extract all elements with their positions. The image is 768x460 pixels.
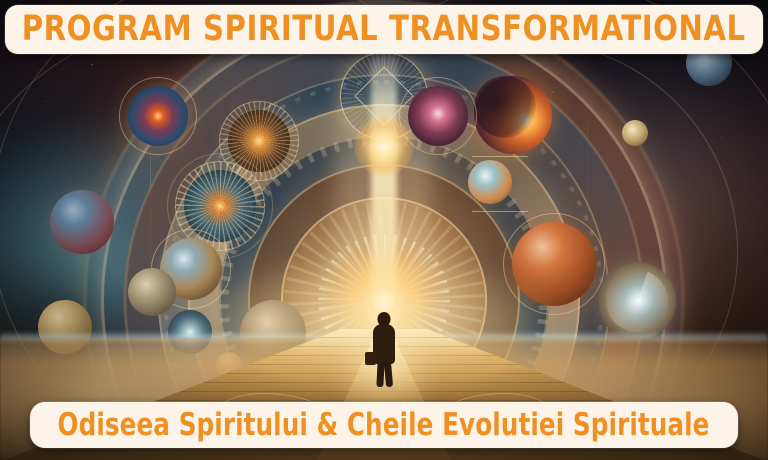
bottom-subtitle-banner: Odiseea Spiritului & Cheile Evolutiei Sp… <box>30 402 738 448</box>
program-subtitle: Odiseea Spiritului & Cheile Evolutiei Sp… <box>58 410 710 441</box>
figure-body <box>373 324 395 364</box>
top-title-banner: PROGRAM SPIRITUAL TRANSFORMATIONAL <box>5 5 763 54</box>
spiral-galaxy <box>598 262 676 340</box>
cosmic-artwork <box>0 0 768 460</box>
walking-figure <box>369 312 399 386</box>
planet-pink-nebula <box>408 86 468 146</box>
program-title: PROGRAM SPIRITUAL TRANSFORMATIONAL <box>22 12 746 47</box>
planet-small-right <box>622 120 648 146</box>
planet-red-blue <box>50 190 114 254</box>
planet-nebula-burst <box>128 86 188 146</box>
planet-hexagram-center <box>468 160 512 204</box>
crescent-moon <box>474 76 552 154</box>
planet-grey <box>128 268 176 316</box>
briefcase-icon <box>365 352 376 365</box>
poster-root: PROGRAM SPIRITUAL TRANSFORMATIONAL Odise… <box>0 0 768 460</box>
